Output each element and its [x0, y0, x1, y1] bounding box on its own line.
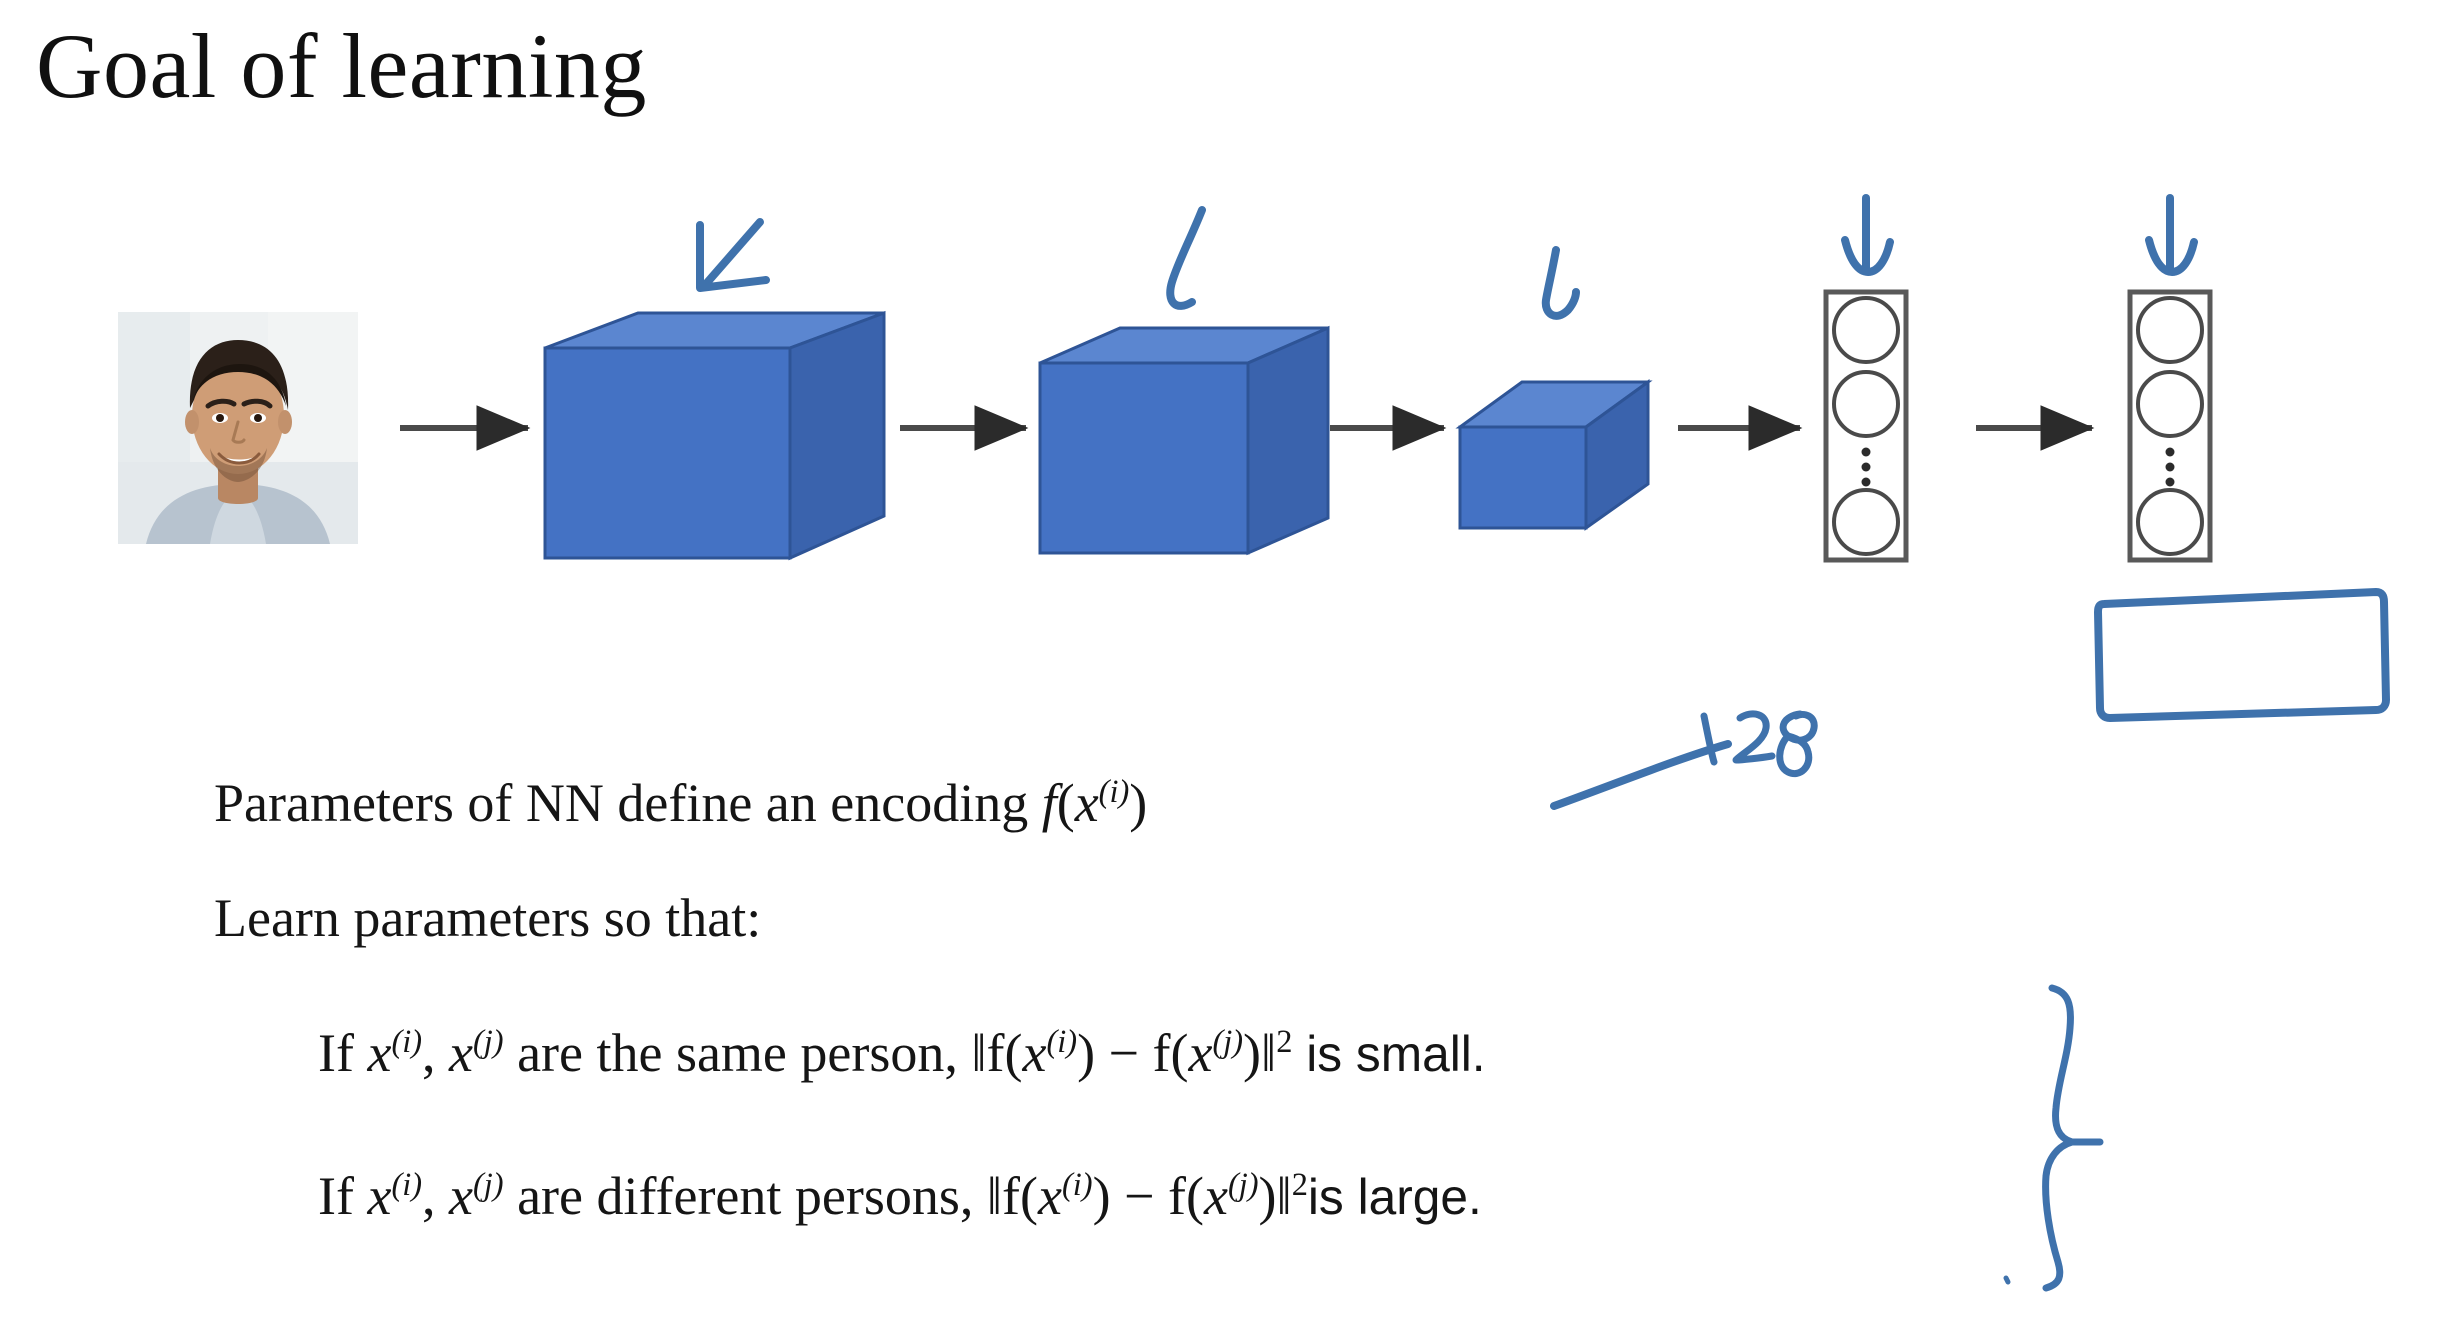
- ink-arrow-down-left-icon: [700, 222, 766, 288]
- ink-output-box: [2098, 592, 2386, 718]
- ink-arrow-down-1-icon: [1845, 198, 1890, 272]
- ink-hook-stroke-1-icon: [1170, 210, 1202, 306]
- ink-arrow-down-2-icon: [2149, 198, 2194, 272]
- ink-hook-stroke-2-icon: [1546, 250, 1576, 316]
- ink-stray-dot: [2006, 1278, 2008, 1282]
- ink-leader-line-128: [1554, 744, 1728, 806]
- ink-brace: [2046, 988, 2100, 1288]
- ink-annotation-layer: [0, 0, 2444, 1334]
